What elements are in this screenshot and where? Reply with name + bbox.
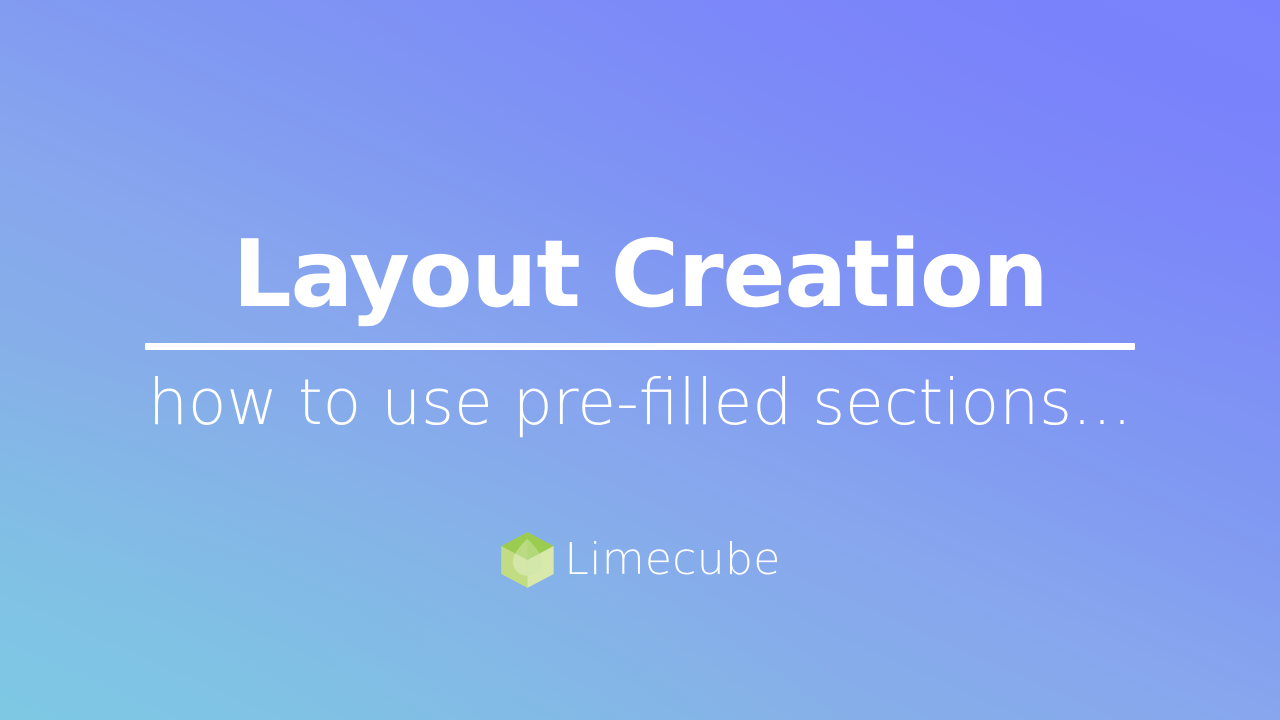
brand-lockup: Limecube	[499, 531, 780, 589]
headline-block: Layout Creation how to use pre-filled se…	[135, 226, 1145, 437]
brand-name: Limecube	[564, 538, 780, 582]
title-slide: Layout Creation how to use pre-filled se…	[0, 0, 1280, 720]
slide-title: Layout Creation	[232, 226, 1047, 324]
slide-subtitle: how to use pre-filled sections...	[148, 368, 1132, 437]
title-divider-rule	[145, 343, 1135, 350]
slide-content: Layout Creation how to use pre-filled se…	[0, 0, 1280, 720]
limecube-cube-icon	[499, 531, 555, 589]
